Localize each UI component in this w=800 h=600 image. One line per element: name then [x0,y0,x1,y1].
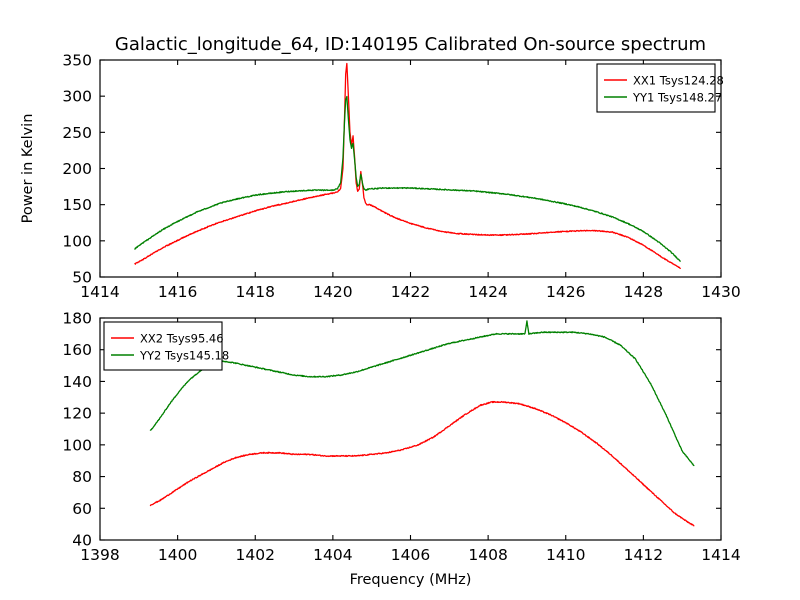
x-tick-label: 1416 [158,283,197,301]
spectrum-plot[interactable]: 1414141614181420142214241426142814305010… [0,0,800,600]
y-tick-label: 160 [62,341,92,359]
x-tick-label: 1400 [158,546,197,564]
y-tick-label: 100 [62,436,92,454]
x-tick-label: 1414 [701,546,740,564]
legend-top-box [597,64,715,112]
x-tick-label: 1410 [546,546,585,564]
y-tick-label: 50 [72,269,92,287]
y-tick-label: 250 [62,124,92,142]
x-axis-label: Frequency (MHz) [350,572,472,588]
legend-bottom-box [104,322,222,370]
legend-bottom-label: XX2 Tsys95.46 [140,332,224,346]
plot-title: Galactic_longitude_64, ID:140195 Calibra… [115,34,706,55]
legend-top-label: XX1 Tsys124.28 [633,74,724,88]
x-tick-label: 1404 [313,546,352,564]
y-tick-label: 350 [62,52,92,70]
y-tick-label: 150 [62,196,92,214]
y-tick-label: 40 [72,532,92,550]
y-tick-label: 120 [62,405,92,423]
y-axis-label: Power in Kelvin [20,114,36,224]
y-tick-label: 140 [62,373,92,391]
y-tick-label: 200 [62,160,92,178]
y-tick-label: 60 [72,500,92,518]
legend-bottom-label: YY2 Tsys145.18 [139,349,229,363]
x-tick-label: 1418 [236,283,275,301]
series-line-yy2[interactable] [150,321,693,466]
x-tick-label: 1422 [391,283,430,301]
x-tick-label: 1426 [546,283,585,301]
x-tick-label: 1420 [313,283,352,301]
x-tick-label: 1406 [391,546,430,564]
legend-bottom[interactable]: XX2 Tsys95.46YY2 Tsys145.18 [104,322,229,370]
x-tick-label: 1402 [236,546,275,564]
legend-top[interactable]: XX1 Tsys124.28YY1 Tsys148.27 [597,64,724,112]
y-tick-label: 300 [62,88,92,106]
legend-top-label: YY1 Tsys148.27 [632,91,722,105]
x-tick-label: 1424 [468,283,507,301]
y-tick-label: 100 [62,232,92,250]
panel-clip-bottom [150,321,693,526]
y-tick-label: 80 [72,468,92,486]
figure-canvas: 1414141614181420142214241426142814305010… [0,0,800,600]
x-tick-label: 1428 [624,283,663,301]
x-tick-label: 1412 [624,546,663,564]
x-tick-label: 1430 [701,283,740,301]
series-line-yy1[interactable] [135,97,680,262]
series-line-xx2[interactable] [150,402,693,526]
y-tick-label: 180 [62,310,92,328]
x-tick-label: 1408 [468,546,507,564]
